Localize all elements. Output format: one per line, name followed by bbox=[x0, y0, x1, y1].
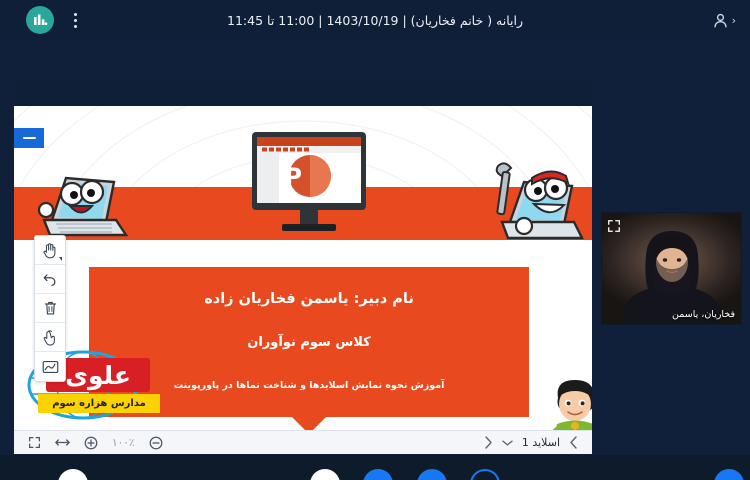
pointer-tool[interactable] bbox=[35, 323, 65, 352]
slide-teacher-name: نام دبیر: یاسمن فخاریان زاده bbox=[89, 291, 529, 307]
control-button-3[interactable] bbox=[363, 469, 393, 480]
control-button-6[interactable] bbox=[714, 469, 744, 480]
presentation-control-bar: ۱۰۰٪ اسلاید 1 bbox=[14, 430, 592, 454]
minimize-dash-icon bbox=[23, 137, 36, 139]
meeting-app-window: رایانه ( خانم فخاریان) | 1403/10/19 | 11… bbox=[0, 0, 750, 480]
delete-tool[interactable] bbox=[35, 294, 65, 323]
cartoon-laptop-character-left bbox=[36, 162, 132, 244]
fit-width-arrows-icon[interactable] bbox=[55, 437, 70, 448]
annotation-toolbar bbox=[34, 235, 66, 382]
slide-block-pointer bbox=[292, 417, 326, 430]
control-button-2[interactable] bbox=[310, 469, 340, 480]
svg-text:P: P bbox=[284, 163, 302, 191]
meeting-stage: P bbox=[0, 40, 750, 455]
expand-video-icon[interactable] bbox=[607, 218, 621, 232]
control-button-4[interactable] bbox=[417, 469, 447, 480]
powerpoint-monitor-graphic: P bbox=[248, 130, 370, 242]
bar-chart-logo-icon[interactable] bbox=[26, 6, 54, 34]
kebab-menu-icon[interactable] bbox=[68, 10, 82, 30]
participant-video-tile[interactable]: فخاریان، یاسمن bbox=[601, 212, 742, 325]
participants-person-icon bbox=[712, 12, 729, 29]
presentation-zoom-controls: ۱۰۰٪ bbox=[14, 436, 163, 450]
slide-top-band bbox=[14, 82, 592, 106]
slide-number-label[interactable]: اسلاید 1 bbox=[522, 436, 560, 449]
pan-hand-tool[interactable] bbox=[35, 236, 65, 265]
cartoon-boy-character bbox=[538, 374, 592, 430]
undo-tool[interactable] bbox=[35, 265, 65, 294]
participants-button[interactable]: ‹ bbox=[712, 0, 736, 40]
zoom-out-minus-icon[interactable] bbox=[149, 436, 163, 450]
collapse-presentation-button[interactable] bbox=[14, 128, 44, 148]
chevron-down-icon[interactable] bbox=[502, 439, 513, 447]
control-button-5[interactable] bbox=[470, 469, 500, 480]
control-button-1[interactable] bbox=[58, 469, 88, 480]
participants-chevron-icon: ‹ bbox=[732, 15, 736, 26]
meeting-controls-bar bbox=[0, 455, 750, 480]
zoom-in-plus-icon[interactable] bbox=[84, 436, 98, 450]
slide-canvas[interactable]: P bbox=[14, 82, 592, 430]
presentation-panel: P bbox=[14, 82, 592, 454]
participant-name-label: فخاریان، یاسمن bbox=[672, 309, 735, 320]
top-bar: رایانه ( خانم فخاریان) | 1403/10/19 | 11… bbox=[0, 0, 750, 40]
cartoon-laptop-wrench-character-right bbox=[476, 160, 584, 248]
chevron-next-icon[interactable] bbox=[569, 436, 578, 449]
top-bar-left-group bbox=[26, 0, 82, 40]
fullscreen-expand-icon[interactable] bbox=[28, 436, 41, 449]
chevron-prev-icon[interactable] bbox=[484, 436, 493, 449]
whiteboard-tool[interactable] bbox=[35, 352, 65, 381]
tool-caret-icon bbox=[59, 257, 62, 261]
school-tagline: مدارس هزاره سوم bbox=[38, 394, 160, 413]
zoom-level-label: ۱۰۰٪ bbox=[112, 437, 135, 449]
slide-navigation: اسلاید 1 bbox=[484, 436, 592, 449]
meeting-title: رایانه ( خانم فخاریان) | 1403/10/19 | 11… bbox=[0, 0, 750, 40]
